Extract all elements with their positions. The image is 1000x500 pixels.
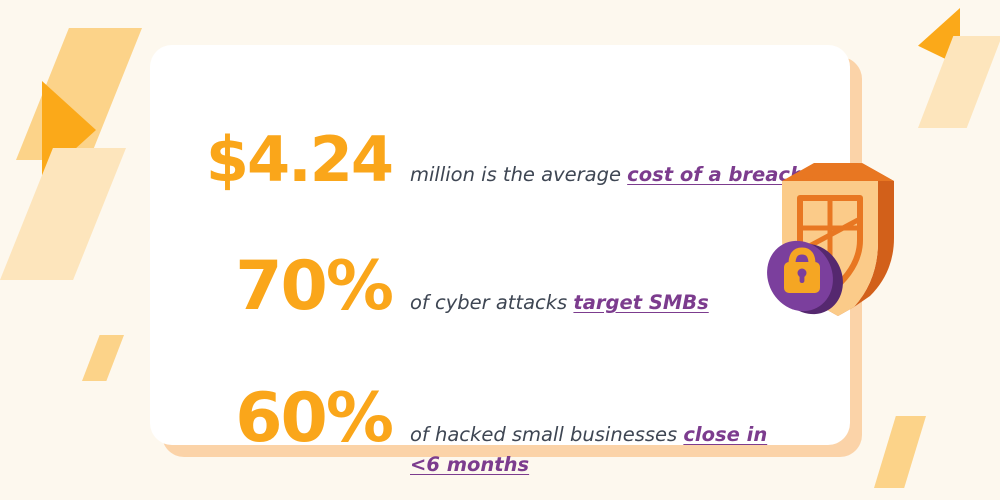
decoration-top-right-parallelogram: [918, 36, 1000, 128]
decoration-top-right-triangle: [918, 8, 960, 66]
decoration-bottom-right-parallelogram: [874, 416, 926, 488]
stat-number: $4.24: [186, 129, 392, 191]
stat-description: million is the average cost of a breach: [410, 160, 782, 190]
stat-text-before: of hacked small businesses: [410, 423, 683, 446]
stat-link[interactable]: target SMBs: [573, 291, 708, 314]
stat-row: 60% of hacked small businesses close in …: [186, 385, 820, 479]
stat-number: 60%: [186, 385, 392, 453]
stat-text-before: of cyber attacks: [410, 291, 573, 314]
stat-row: $4.24 million is the average cost of a b…: [186, 129, 820, 191]
stats-list: $4.24 million is the average cost of a b…: [150, 45, 850, 445]
decoration-top-left-triangle: [42, 81, 96, 179]
stat-number: 70%: [186, 253, 392, 321]
security-illustration: [762, 150, 914, 322]
decoration-top-left-lower-parallelogram: [0, 148, 126, 280]
decoration-top-left-upper-parallelogram: [16, 28, 142, 160]
stat-row: 70% of cyber attacks target SMBs: [186, 253, 820, 321]
decoration-bottom-left-parallelogram: [82, 335, 124, 381]
stat-description: of hacked small businesses close in <6 m…: [410, 420, 782, 479]
stat-text-before: million is the average: [410, 163, 627, 186]
stat-description: of cyber attacks target SMBs: [410, 288, 709, 318]
infographic-canvas: $4.24 million is the average cost of a b…: [0, 0, 1000, 500]
